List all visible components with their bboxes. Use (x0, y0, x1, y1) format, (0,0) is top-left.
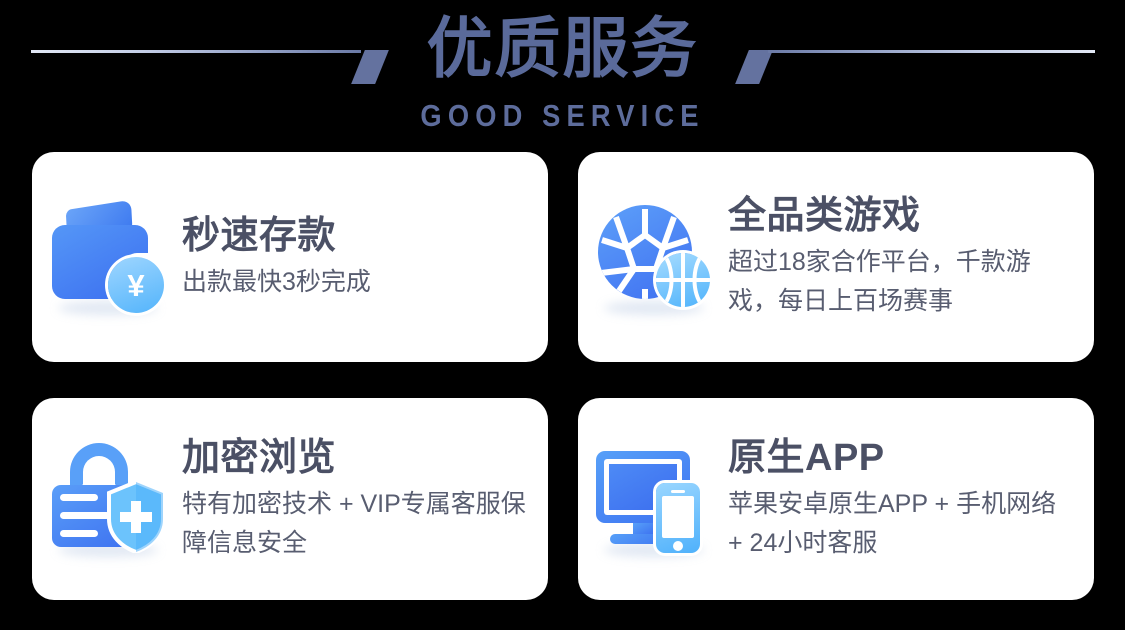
feature-card-deposit[interactable]: ¥ 秒速存款 出款最快3秒完成 (32, 152, 548, 362)
basketball-icon (656, 253, 710, 307)
monitor-phone-icon (592, 439, 720, 559)
lock-slot-line (60, 530, 98, 537)
card-title: 加密浏览 (182, 435, 530, 481)
card-icon-slot (32, 398, 182, 600)
shield-cross-icon (106, 481, 166, 553)
card-text-slot: 原生APP 苹果安卓原生APP + 手机网络 + 24小时客服 (728, 435, 1094, 563)
card-description: 苹果安卓原生APP + 手机网络 + 24小时客服 (728, 485, 1076, 563)
page-header: 优质服务 GOOD SERVICE (0, 0, 1125, 150)
feature-card-grid: ¥ 秒速存款 出款最快3秒完成 (32, 152, 1094, 600)
feature-card-encryption[interactable]: 加密浏览 特有加密技术 + VIP专属客服保障信息安全 (32, 398, 548, 600)
feature-card-games[interactable]: 全品类游戏 超过18家合作平台，千款游戏，每日上百场赛事 (578, 152, 1094, 362)
wallet-yen-icon: ¥ (46, 197, 174, 317)
phone-home-button-icon (673, 541, 683, 551)
card-title: 原生APP (728, 435, 1076, 481)
card-icon-slot (578, 398, 728, 600)
card-icon-slot (578, 152, 728, 362)
card-title: 全品类游戏 (728, 193, 1076, 239)
card-text-slot: 全品类游戏 超过18家合作平台，千款游戏，每日上百场赛事 (728, 193, 1094, 321)
card-description: 特有加密技术 + VIP专属客服保障信息安全 (182, 485, 530, 563)
card-text-slot: 秒速存款 出款最快3秒完成 (182, 213, 548, 302)
phone-screen-icon (662, 496, 694, 538)
page-title: 优质服务 (0, 8, 1125, 88)
phone-speaker-icon (671, 490, 685, 493)
lock-slot-line (60, 512, 110, 519)
page-subtitle: GOOD SERVICE (68, 98, 1058, 134)
card-description: 超过18家合作平台，千款游戏，每日上百场赛事 (728, 243, 1076, 321)
card-icon-slot: ¥ (32, 152, 182, 362)
card-description: 出款最快3秒完成 (182, 263, 530, 302)
card-text-slot: 加密浏览 特有加密技术 + VIP专属客服保障信息安全 (182, 435, 548, 563)
lock-shield-icon (46, 439, 174, 559)
yen-coin-icon: ¥ (108, 257, 164, 313)
lock-slot-line (60, 494, 98, 501)
phone-icon (656, 483, 700, 553)
card-title: 秒速存款 (182, 213, 530, 259)
soccer-basketball-icon (592, 197, 720, 317)
feature-card-native-app[interactable]: 原生APP 苹果安卓原生APP + 手机网络 + 24小时客服 (578, 398, 1094, 600)
